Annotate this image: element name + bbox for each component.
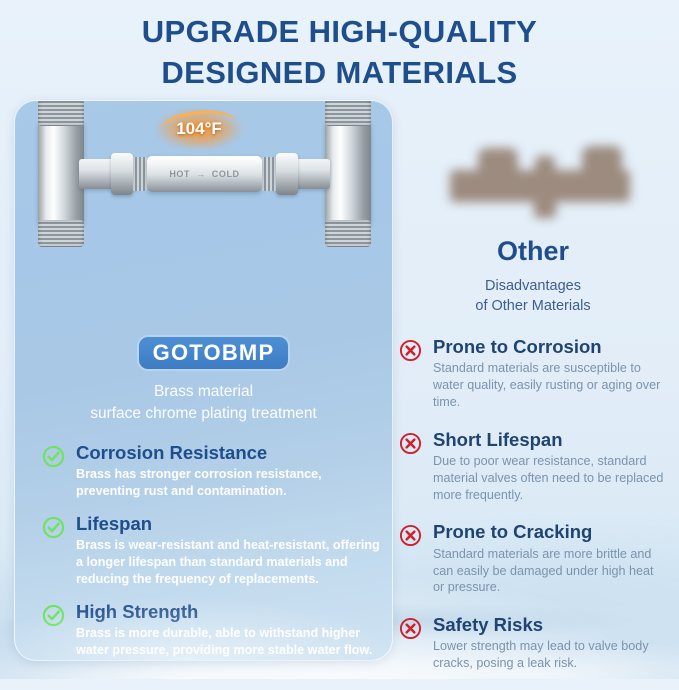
advantage-title: High Strength: [76, 601, 382, 622]
thread-top-right: [325, 100, 371, 126]
page-title: UPGRADE HIGH-QUALITY DESIGNED MATERIALS: [0, 12, 679, 94]
cross-circle-icon: [399, 432, 422, 455]
other-product-silhouette: [430, 138, 640, 228]
advantage-desc: Brass has stronger corrosion resistance,…: [76, 466, 382, 499]
temperature-badge: 104°F: [155, 108, 243, 150]
silhouette-knob-left: [478, 148, 518, 178]
advantages-list: Corrosion Resistance Brass has stronger …: [42, 442, 382, 661]
drawback-desc: Lower strength may lead to valve body cr…: [433, 638, 667, 671]
valve-body-tube: HOT → COLD: [147, 156, 262, 192]
valve-nut-right: [276, 153, 298, 195]
check-circle-icon: [42, 604, 65, 627]
silhouette-center-port: [535, 156, 555, 182]
drawback-title: Safety Risks: [433, 614, 667, 635]
other-subtitle-line1: Disadvantages: [399, 276, 667, 296]
temperature-value: 104°F: [176, 119, 222, 139]
silhouette-outlet: [534, 196, 556, 218]
thread-bottom-left: [38, 220, 84, 247]
valve-label-hot: HOT: [169, 169, 190, 179]
other-heading: Other: [399, 236, 667, 267]
drawback-item: Prone to Cracking Standard materials are…: [399, 521, 667, 596]
brand-subtitle: Brass material surface chrome plating tr…: [15, 381, 392, 425]
advantage-title: Lifespan: [76, 513, 382, 534]
brand-subtitle-line1: Brass material: [15, 381, 392, 403]
advantage-item: Corrosion Resistance Brass has stronger …: [42, 442, 382, 500]
advantage-desc: Brass is wear-resistant and heat-resista…: [76, 537, 382, 587]
valve-tee-right: [325, 119, 371, 227]
drawback-item: Prone to Corrosion Standard materials ar…: [399, 336, 667, 411]
drawback-desc: Due to poor wear resistance, standard ma…: [433, 453, 667, 503]
page-title-line2: DESIGNED MATERIALS: [0, 53, 679, 94]
thread-top-left: [38, 100, 84, 126]
check-circle-icon: [42, 445, 65, 468]
cross-circle-icon: [399, 339, 422, 362]
advantage-title: Corrosion Resistance: [76, 442, 382, 463]
brand-subtitle-line2: surface chrome plating treatment: [15, 403, 392, 425]
silhouette-knob-right: [582, 146, 622, 178]
valve-flow-arrow-icon: →: [196, 169, 206, 179]
drawback-item: Safety Risks Lower strength may lead to …: [399, 614, 667, 672]
advantage-item: Lifespan Brass is wear-resistant and hea…: [42, 513, 382, 588]
valve-nut-left: [111, 153, 133, 195]
valve-label-cold: COLD: [212, 169, 240, 179]
check-circle-icon: [42, 516, 65, 539]
page-title-line1: UPGRADE HIGH-QUALITY: [0, 12, 679, 53]
other-subtitle-line2: of Other Materials: [399, 296, 667, 316]
drawback-title: Prone to Cracking: [433, 521, 667, 542]
cross-circle-icon: [399, 524, 422, 547]
drawback-title: Short Lifespan: [433, 429, 667, 450]
cross-circle-icon: [399, 617, 422, 640]
advantage-desc: Brass is more durable, able to withstand…: [76, 625, 382, 658]
drawback-item: Short Lifespan Due to poor wear resistan…: [399, 429, 667, 504]
drawback-desc: Standard materials are susceptible to wa…: [433, 360, 667, 410]
drawback-title: Prone to Corrosion: [433, 336, 667, 357]
valve-tee-left: [38, 119, 84, 227]
advantage-item: High Strength Brass is more durable, abl…: [42, 601, 382, 659]
other-subtitle: Disadvantages of Other Materials: [399, 276, 667, 317]
brand-badge: GOTOBMP: [137, 335, 290, 371]
brass-product-card: HOT → COLD GOTOBMP Brass material surfac…: [14, 100, 393, 661]
drawbacks-list: Prone to Corrosion Standard materials ar…: [399, 336, 667, 690]
brand-name: GOTOBMP: [153, 340, 275, 366]
drawback-desc: Standard materials are more brittle and …: [433, 546, 667, 596]
thread-bottom-right: [325, 220, 371, 247]
